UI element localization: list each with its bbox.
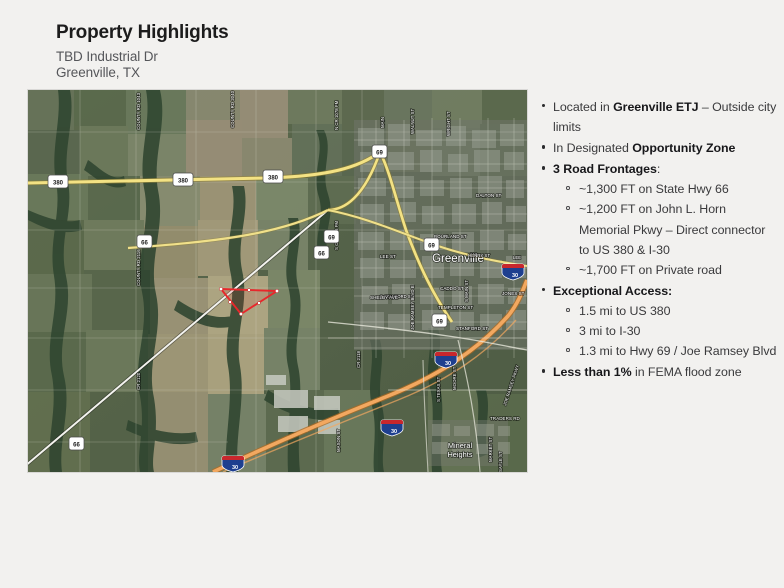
shield-hwy-66-southwest: 66: [69, 437, 84, 450]
highlight-item: Located in Greenville ETJ – Outside city…: [540, 97, 778, 137]
shield-us-69-west: 69: [324, 230, 339, 243]
svg-text:66: 66: [73, 443, 80, 449]
shield-us-380-mid: 380: [173, 173, 193, 186]
highlight-subitem-text: 1.5 mi to US 380: [579, 304, 671, 318]
highlight-plain: :: [657, 162, 660, 176]
svg-text:S TEXAS ST: S TEXAS ST: [436, 376, 441, 402]
svg-text:66: 66: [318, 252, 325, 258]
map-label-mineral-heights-2: Heights: [447, 450, 472, 459]
map-imagery-layer: Greenville Mineral Heights DALTON ST BOU…: [28, 90, 527, 472]
svg-text:COUNTY RD 2040: COUNTY RD 2040: [230, 90, 235, 128]
highlight-item: 3 Road Frontages:~1,300 FT on State Hwy …: [540, 159, 778, 280]
bullet-ring-icon: [566, 308, 570, 312]
svg-text:30: 30: [512, 273, 518, 279]
svg-text:380: 380: [268, 176, 279, 182]
vertex-marker: [248, 289, 251, 292]
highlight-item-text: Exceptional Access:: [553, 284, 672, 298]
bullet-ring-icon: [566, 328, 570, 332]
vertex-marker: [275, 289, 278, 292]
shield-us-380-west: 380: [48, 175, 68, 188]
highlight-subitem-text: ~1,200 FT on John L. Horn Memorial Pkwy …: [579, 202, 765, 256]
svg-text:LEE: LEE: [513, 255, 521, 260]
svg-text:30: 30: [391, 429, 397, 435]
highlight-subitem-text: ~1,300 FT on State Hwy 66: [579, 182, 729, 196]
highlight-subitem-text: 1.3 mi to Hwy 69 / Joe Ramsey Blvd: [579, 344, 776, 358]
svg-text:HENRY ST: HENRY ST: [468, 253, 490, 258]
highlight-emphasis: 3 Road Frontages: [553, 162, 657, 176]
svg-text:380: 380: [53, 181, 64, 187]
vertex-marker: [258, 302, 261, 305]
svg-text:CR 2120: CR 2120: [136, 372, 141, 390]
bullet-dot-icon: [542, 288, 545, 291]
svg-text:MASON ST: MASON ST: [336, 429, 341, 452]
bullet-dot-icon: [542, 166, 545, 169]
shield-us-69-mid: 69: [424, 238, 439, 251]
svg-text:MAIN: MAIN: [380, 117, 385, 128]
svg-text:30: 30: [232, 465, 238, 471]
subtitle-address-line1: TBD Industrial Dr: [56, 49, 496, 65]
svg-text:MARKET ST: MARKET ST: [488, 437, 493, 462]
shield-us-380-east: 380: [263, 170, 283, 183]
header: Property Highlights TBD Industrial Dr Gr…: [56, 22, 496, 82]
highlights-level2-list: ~1,300 FT on State Hwy 66~1,200 FT on Jo…: [553, 179, 778, 279]
bullet-dot-icon: [542, 369, 545, 372]
bullet-ring-icon: [566, 348, 570, 352]
map-label-mineral-heights: Mineral: [448, 441, 473, 450]
svg-text:JOE RAMSEY BLVD E: JOE RAMSEY BLVD E: [410, 285, 415, 330]
svg-text:DALTON ST: DALTON ST: [476, 193, 502, 198]
svg-text:WRIGHT ST: WRIGHT ST: [446, 111, 451, 136]
highlight-subitem-text: ~1,700 FT on Private road: [579, 263, 722, 277]
highlight-item: Less than 1% in FEMA flood zone: [540, 362, 778, 382]
highlight-item-text: Located in Greenville ETJ – Outside city…: [553, 100, 776, 134]
subtitle-address-line2: Greenville, TX: [56, 65, 496, 81]
svg-text:MOORE ST: MOORE ST: [452, 366, 457, 390]
svg-text:JONES ST: JONES ST: [502, 291, 525, 296]
svg-text:WALNUT ST: WALNUT ST: [410, 109, 415, 134]
vertex-marker: [229, 301, 232, 304]
vertex-marker: [219, 287, 222, 290]
highlight-subitem: ~1,700 FT on Private road: [563, 260, 778, 280]
svg-text:N CR 1078 FM: N CR 1078 FM: [334, 100, 339, 130]
highlights-level2-list: 1.5 mi to US 3803 mi to I-301.3 mi to Hw…: [553, 301, 778, 361]
svg-text:TRADERS RD: TRADERS RD: [490, 416, 521, 421]
svg-text:COUNTY RD 2116: COUNTY RD 2116: [136, 249, 141, 286]
svg-text:SHELBY AVE: SHELBY AVE: [370, 295, 398, 300]
highlight-plain: In Designated: [553, 141, 632, 155]
svg-text:66: 66: [141, 241, 148, 247]
highlight-subitem: 1.3 mi to Hwy 69 / Joe Ramsey Blvd: [563, 341, 778, 361]
highlight-item-text: 3 Road Frontages:: [553, 162, 660, 176]
highlight-emphasis: Less than 1%: [553, 365, 632, 379]
vertex-marker: [239, 312, 242, 315]
svg-text:30: 30: [445, 361, 451, 367]
svg-text:69: 69: [436, 320, 443, 326]
svg-text:CADDO ST: CADDO ST: [440, 286, 464, 291]
bullet-ring-icon: [566, 267, 570, 271]
svg-text:TEMPLETON ST: TEMPLETON ST: [438, 305, 473, 310]
highlight-item: Exceptional Access:1.5 mi to US 3803 mi …: [540, 281, 778, 361]
svg-text:LEE ST: LEE ST: [380, 254, 396, 259]
highlight-emphasis: Opportunity Zone: [632, 141, 735, 155]
shield-us-69-north: 69: [372, 145, 387, 158]
bullet-ring-icon: [566, 206, 570, 210]
map-canvas[interactable]: Greenville Mineral Heights DALTON ST BOU…: [28, 90, 527, 472]
highlights-level1-list: Located in Greenville ETJ – Outside city…: [540, 97, 778, 382]
bullet-dot-icon: [542, 104, 545, 107]
svg-text:69: 69: [428, 244, 435, 250]
highlight-emphasis: Exceptional Access:: [553, 284, 672, 298]
highlight-subitem: ~1,300 FT on State Hwy 66: [563, 179, 778, 199]
page-title: Property Highlights: [56, 22, 496, 44]
svg-text:COUNTY RD 1043: COUNTY RD 1043: [136, 92, 141, 130]
highlight-subitem: ~1,200 FT on John L. Horn Memorial Pkwy …: [563, 199, 778, 259]
highlight-plain: in FEMA flood zone: [632, 365, 742, 379]
svg-text:CR 2118: CR 2118: [356, 350, 361, 368]
property-highlights-list: Located in Greenville ETJ – Outside city…: [540, 97, 778, 383]
svg-text:380: 380: [178, 179, 189, 185]
bullet-ring-icon: [566, 186, 570, 190]
highlight-plain: Located in: [553, 100, 613, 114]
shield-hwy-66-junction: 66: [314, 246, 329, 259]
shield-us-69-south: 69: [432, 314, 447, 327]
shield-hwy-66-mid: 66: [137, 235, 152, 248]
highlight-subitem-text: 3 mi to I-30: [579, 324, 640, 338]
svg-text:BOURLAND ST: BOURLAND ST: [434, 234, 467, 239]
svg-text:SAYLE ST: SAYLE ST: [498, 451, 503, 472]
highlight-item-text: In Designated Opportunity Zone: [553, 141, 735, 155]
svg-text:69: 69: [376, 151, 383, 157]
svg-text:S MAIN ST: S MAIN ST: [464, 280, 469, 302]
bullet-dot-icon: [542, 145, 545, 148]
highlight-item: In Designated Opportunity Zone: [540, 138, 778, 158]
svg-text:STANFORD ST: STANFORD ST: [456, 326, 488, 331]
property-location-map[interactable]: Greenville Mineral Heights DALTON ST BOU…: [28, 90, 527, 472]
highlight-subitem: 1.5 mi to US 380: [563, 301, 778, 321]
highlight-subitem: 3 mi to I-30: [563, 321, 778, 341]
highlight-item-text: Less than 1% in FEMA flood zone: [553, 365, 742, 379]
svg-text:69: 69: [328, 236, 335, 242]
highlight-emphasis: Greenville ETJ: [613, 100, 698, 114]
